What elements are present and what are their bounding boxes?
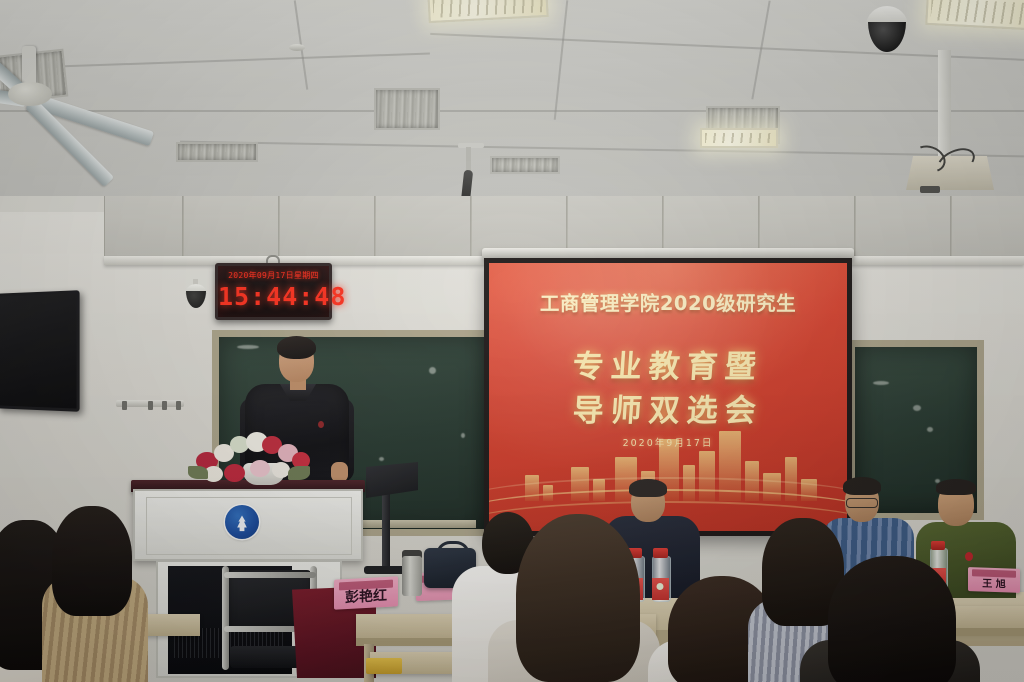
speaker-shirt-logo (318, 421, 324, 428)
emblem-mountain-mark (232, 515, 252, 532)
nameplate: 彭艳红 (334, 576, 398, 609)
speaker-hand (331, 462, 348, 482)
projector-mount-pole (938, 50, 951, 160)
tray-clip (148, 401, 153, 410)
flower (224, 464, 245, 482)
microphone-mount (458, 143, 484, 148)
wall-mounted-tv[interactable] (0, 290, 80, 412)
dome-security-camera (868, 22, 906, 52)
clock-time-display: 15:44:48 (218, 282, 329, 311)
ceiling-light (427, 0, 548, 23)
ceiling (0, 0, 1024, 200)
nameplate: 王 旭 (968, 567, 1020, 593)
chair-frame-rail (222, 566, 229, 670)
nameplate-name: 王 旭 (968, 574, 1020, 591)
panelist-center-hair (629, 479, 667, 497)
eyeglasses-icon (846, 498, 878, 508)
projector-lens (920, 186, 940, 193)
ceiling-vent (374, 88, 440, 130)
wall-ledge (0, 196, 110, 212)
university-emblem (225, 505, 259, 539)
fan-motor (8, 82, 52, 106)
tray-clip (176, 401, 181, 410)
lectern-stand-pole (382, 492, 390, 570)
student-right-2-hair (828, 556, 956, 682)
ceiling-light (700, 128, 778, 148)
ceiling-fan (22, 46, 36, 86)
tray-clip (122, 401, 127, 410)
ceiling-light (925, 0, 1024, 31)
flower-leaf (288, 466, 310, 480)
student-center-2-hair (516, 514, 640, 682)
screen-date: 2020年9月17日 (489, 435, 847, 449)
flower (250, 460, 270, 477)
classroom-photo-scene: 2020年09月17日星期四 15:44:48 (0, 0, 1024, 682)
clock-date-display: 2020年09月17日星期四 (218, 270, 329, 281)
panelist-right-green-hair (936, 479, 976, 495)
flower-leaf (188, 466, 208, 479)
screen-subtitle-line1: 专业教育暨 (489, 341, 847, 386)
screen-subtitle-line2: 导师双选会 (489, 385, 847, 430)
ceiling-vent (176, 142, 258, 162)
nameplate-name: 彭艳红 (334, 584, 398, 607)
chair-frame-rail (224, 572, 316, 578)
panelist-lapel-pin (965, 552, 973, 561)
ceiling-vent (490, 156, 560, 174)
screen-title: 工商管理学院2020级研究生 (489, 287, 847, 316)
bottle-logo (657, 583, 664, 590)
notebook[interactable] (366, 658, 402, 674)
projection-screen: 工商管理学院2020级研究生 专业教育暨 导师双选会 2020年9月17日 (489, 263, 847, 531)
led-wall-clock: 2020年09月17日星期四 15:44:48 (215, 263, 332, 320)
bottle-cap (931, 541, 945, 550)
bottle-cap (653, 548, 668, 558)
thermos-bottle[interactable] (402, 556, 422, 596)
panelist-right-glasses-hair (843, 477, 881, 495)
tray-clip (162, 401, 167, 410)
student-left-2-hair (52, 506, 132, 616)
smoke-detector (289, 44, 305, 51)
speaker-hair (277, 336, 316, 359)
